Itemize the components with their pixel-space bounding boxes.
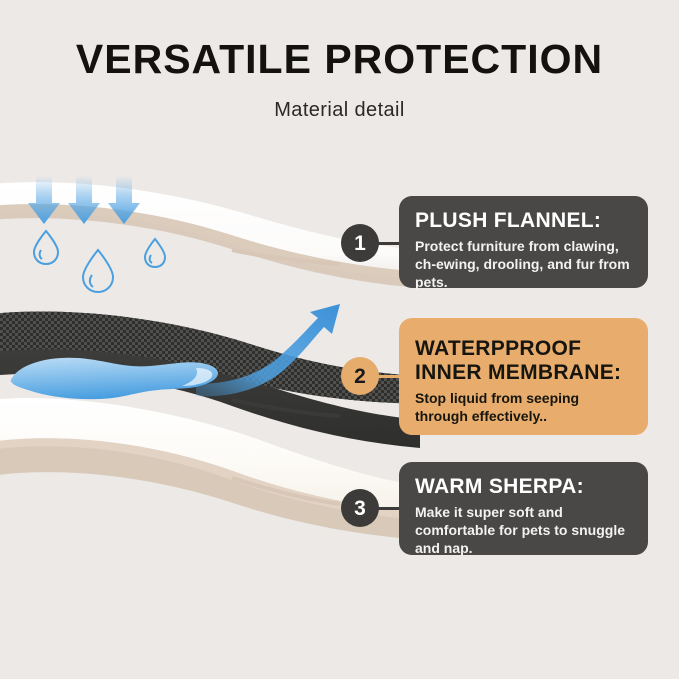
infographic-canvas: VERSATILE PROTECTION Material detail bbox=[0, 0, 679, 679]
step-badge-1-number: 1 bbox=[354, 233, 366, 254]
water-drop-icon bbox=[34, 231, 58, 264]
water-puddle bbox=[11, 358, 218, 399]
callout-box-warm-sherpa[interactable]: WARM SHERPA: Make it super soft and comf… bbox=[399, 462, 648, 555]
callout-box-plush-flannel[interactable]: PLUSH FLANNEL: Protect furniture from cl… bbox=[399, 196, 648, 288]
water-drop-icon bbox=[83, 250, 113, 292]
step-badge-3[interactable]: 3 bbox=[341, 489, 379, 527]
step-badge-2[interactable]: 2 bbox=[341, 357, 379, 395]
step-badge-1[interactable]: 1 bbox=[341, 224, 379, 262]
callout-body-1: Protect furniture from clawing, ch-ewing… bbox=[415, 237, 632, 292]
callout-title-1: PLUSH FLANNEL: bbox=[415, 209, 632, 233]
step-badge-3-number: 3 bbox=[354, 498, 366, 519]
water-drop-icon bbox=[145, 239, 165, 267]
callout-title-2: WATERPPROOF INNER MEMBRANE: bbox=[415, 337, 632, 385]
callout-body-2: Stop liquid from seeping through effecti… bbox=[415, 389, 632, 425]
callout-body-3: Make it super soft and comfortable for p… bbox=[415, 503, 632, 558]
step-badge-2-number: 2 bbox=[354, 366, 366, 387]
callout-box-waterproof-membrane[interactable]: WATERPPROOF INNER MEMBRANE: Stop liquid … bbox=[399, 318, 648, 435]
callout-title-3: WARM SHERPA: bbox=[415, 475, 632, 499]
